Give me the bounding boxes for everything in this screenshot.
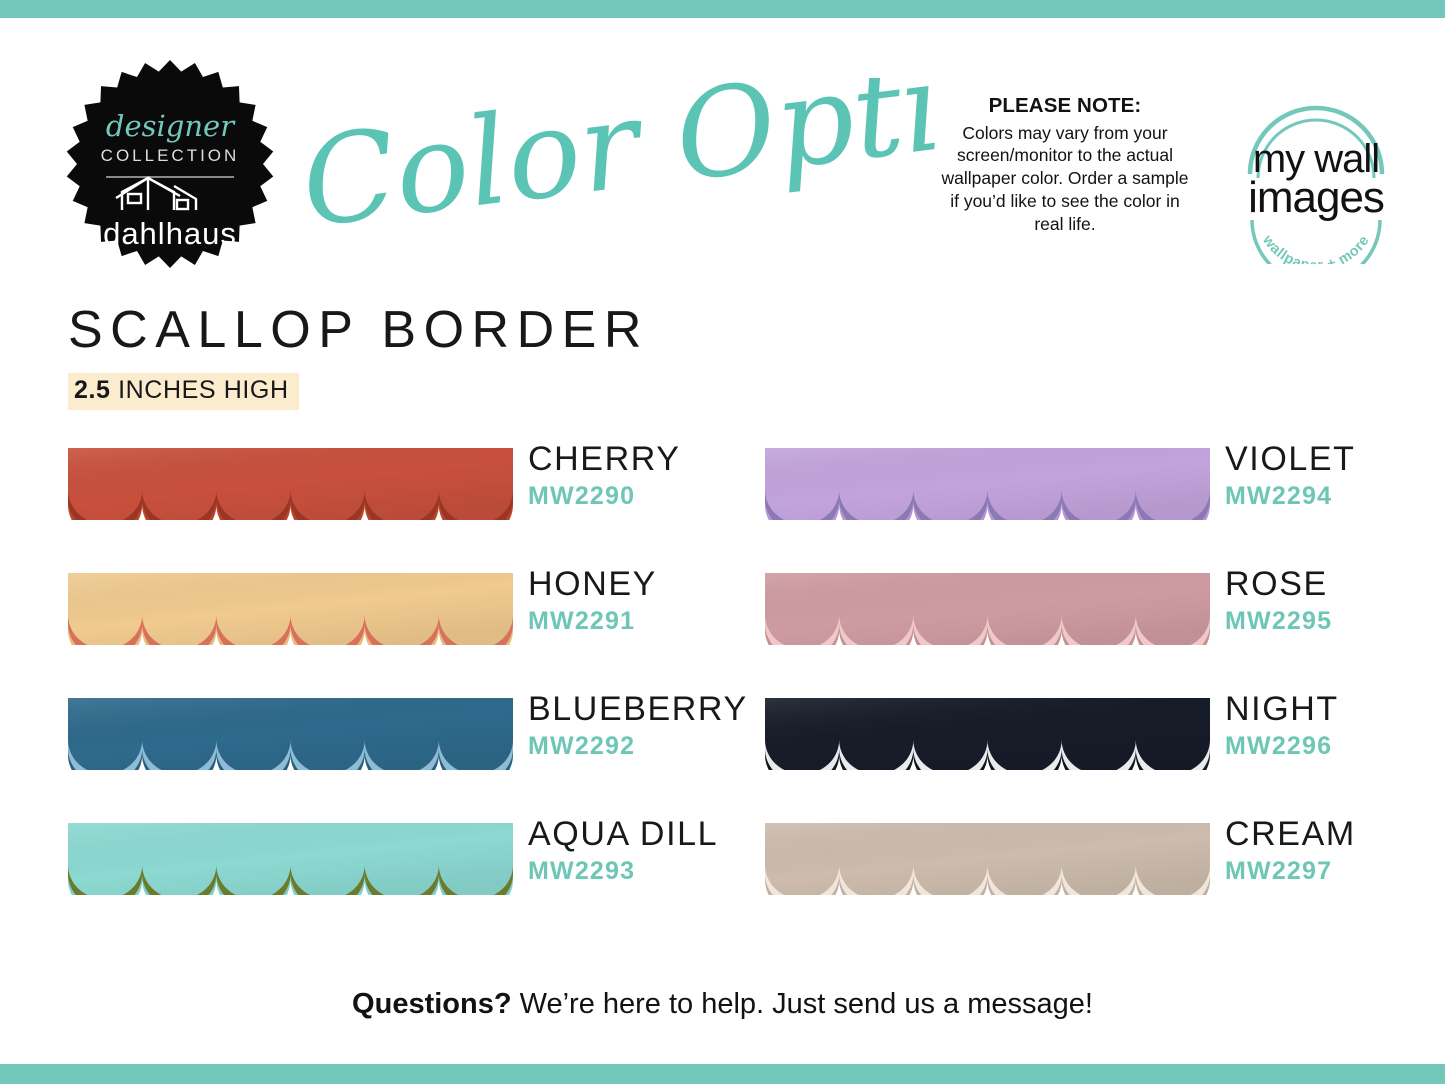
swatch-color-name: CHERRY <box>528 442 788 478</box>
swatch-row[interactable]: CREAMMW2297 <box>765 815 1445 940</box>
designer-collection-badge: designer COLLECTION dahlhaus <box>64 58 276 270</box>
swatch-color-name: BLUEBERRY <box>528 692 788 728</box>
swatch-sku-code: MW2297 <box>1225 857 1445 886</box>
swatch-row[interactable]: NIGHTMW2296 <box>765 690 1445 815</box>
color-options-script-title: Color Options <box>300 78 940 268</box>
scallop-shading <box>68 698 513 770</box>
swatch-row[interactable]: VIOLETMW2294 <box>765 440 1445 565</box>
scallop-shading <box>68 448 513 520</box>
swatch-color-name: AQUA DILL <box>528 817 788 853</box>
swatch-row[interactable]: AQUA DILLMW2293 <box>68 815 748 940</box>
scallop-swatch[interactable] <box>765 698 1210 770</box>
footer-bold: Questions? <box>352 988 512 1020</box>
scallop-shading <box>68 823 513 895</box>
scallop-shading <box>765 573 1210 645</box>
swatch-row[interactable]: ROSEMW2295 <box>765 565 1445 690</box>
badge-brand: dahlhaus <box>103 216 237 251</box>
swatch-labels: VIOLETMW2294 <box>1225 442 1445 511</box>
swatch-sku-code: MW2293 <box>528 857 788 886</box>
swatch-labels: AQUA DILLMW2293 <box>528 817 788 886</box>
please-note-block: PLEASE NOTE: Colors may vary from your s… <box>940 93 1190 235</box>
swatch-row[interactable]: HONEYMW2291 <box>68 565 748 690</box>
scallop-swatch[interactable] <box>68 448 513 520</box>
swatch-sku-code: MW2296 <box>1225 732 1445 761</box>
please-note-heading: PLEASE NOTE: <box>940 93 1190 120</box>
swatch-color-name: HONEY <box>528 567 788 603</box>
please-note-body: Colors may vary from your screen/monitor… <box>940 122 1190 236</box>
page-title: SCALLOP BORDER <box>68 300 649 360</box>
size-value: 2.5 <box>74 376 111 404</box>
size-badge: 2.5 INCHES HIGH <box>68 373 299 410</box>
teal-bar-bottom <box>0 1064 1445 1084</box>
logo-line-2: images <box>1248 173 1384 222</box>
swatch-labels: CHERRYMW2290 <box>528 442 788 511</box>
swatch-color-name: ROSE <box>1225 567 1445 603</box>
swatch-color-name: CREAM <box>1225 817 1445 853</box>
swatch-sku-code: MW2291 <box>528 607 788 636</box>
swatch-labels: BLUEBERRYMW2292 <box>528 692 788 761</box>
color-options-page: designer COLLECTION dahlhaus Color Optio… <box>0 0 1445 1084</box>
swatch-labels: NIGHTMW2296 <box>1225 692 1445 761</box>
scallop-swatch[interactable] <box>765 823 1210 895</box>
scallop-shading <box>765 448 1210 520</box>
scallop-swatch[interactable] <box>68 823 513 895</box>
swatch-color-name: VIOLET <box>1225 442 1445 478</box>
scallop-shading <box>68 573 513 645</box>
teal-bar-top <box>0 0 1445 18</box>
scallop-swatch[interactable] <box>68 573 513 645</box>
swatch-color-name: NIGHT <box>1225 692 1445 728</box>
badge-collection-word: COLLECTION <box>101 146 240 165</box>
scallop-swatch[interactable] <box>765 448 1210 520</box>
my-wall-images-logo: my wall images wallpaper + more <box>1232 96 1400 264</box>
swatch-row[interactable]: BLUEBERRYMW2292 <box>68 690 748 815</box>
swatch-sku-code: MW2292 <box>528 732 788 761</box>
script-title-text: Color Options <box>300 78 940 255</box>
swatch-labels: ROSEMW2295 <box>1225 567 1445 636</box>
footer-rest: We’re here to help. Just send us a messa… <box>512 988 1093 1020</box>
badge-script-word: designer <box>106 109 236 143</box>
swatch-sku-code: MW2294 <box>1225 482 1445 511</box>
footer-help-text: Questions? We’re here to help. Just send… <box>0 988 1445 1021</box>
scallop-shading <box>765 698 1210 770</box>
swatch-labels: CREAMMW2297 <box>1225 817 1445 886</box>
scallop-swatch[interactable] <box>765 573 1210 645</box>
swatch-sku-code: MW2295 <box>1225 607 1445 636</box>
size-unit: INCHES HIGH <box>118 376 289 404</box>
size-badge-wrap: 2.5 INCHES HIGH <box>68 373 299 410</box>
logo-tagline: wallpaper + more <box>1258 232 1372 264</box>
scallop-swatch[interactable] <box>68 698 513 770</box>
swatch-labels: HONEYMW2291 <box>528 567 788 636</box>
swatch-sku-code: MW2290 <box>528 482 788 511</box>
scallop-shading <box>765 823 1210 895</box>
swatch-row[interactable]: CHERRYMW2290 <box>68 440 748 565</box>
